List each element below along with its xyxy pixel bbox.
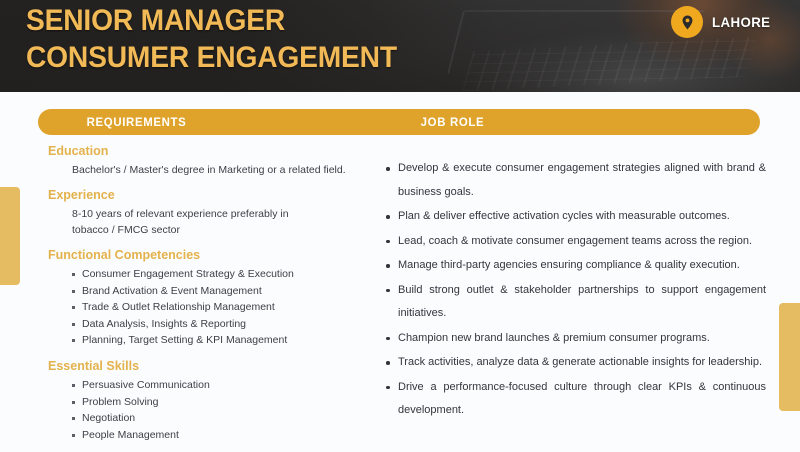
- location-label: LAHORE: [712, 14, 770, 30]
- list-item: Manage third-party agencies ensuring com…: [386, 254, 766, 278]
- list-item: Build strong outlet & stakeholder partne…: [386, 279, 766, 326]
- job-role-list: Develop & execute consumer engagement st…: [386, 157, 766, 423]
- location-badge: LAHORE: [671, 6, 774, 38]
- list-item: Consumer Engagement Strategy & Execution: [72, 266, 368, 283]
- experience-group: Experience 8-10 years of relevant experi…: [48, 187, 368, 238]
- job-role-column: Develop & execute consumer engagement st…: [386, 157, 766, 424]
- list-item: Track activities, analyze data & generat…: [386, 351, 766, 375]
- list-item: Persuasive Communication: [72, 377, 368, 394]
- education-heading: Education: [48, 143, 368, 159]
- experience-heading: Experience: [48, 187, 368, 203]
- requirements-column: Education Bachelor's / Master's degree i…: [48, 143, 368, 452]
- section-header-bar: REQUIREMENTS JOB ROLE: [38, 109, 760, 135]
- experience-text-line-1: 8-10 years of relevant experience prefer…: [72, 206, 368, 222]
- left-edge-accent-tab: [0, 187, 20, 285]
- functional-competencies-heading: Functional Competencies: [48, 247, 368, 263]
- essential-skills-heading: Essential Skills: [48, 358, 368, 374]
- page-title: SENIOR MANAGER CONSUMER ENGAGEMENT: [26, 2, 421, 76]
- list-item: Problem Solving: [72, 394, 368, 411]
- right-edge-accent-tab: [779, 303, 800, 411]
- list-item: Develop & execute consumer engagement st…: [386, 157, 766, 204]
- job-title-line-1: SENIOR MANAGER: [26, 2, 397, 39]
- functional-competencies-group: Functional Competencies Consumer Engagem…: [48, 247, 368, 349]
- job-role-column-header: JOB ROLE: [421, 109, 485, 135]
- requirements-column-header: REQUIREMENTS: [87, 109, 187, 135]
- education-group: Education Bachelor's / Master's degree i…: [48, 143, 368, 178]
- functional-competencies-list: Consumer Engagement Strategy & Execution…: [48, 266, 368, 349]
- job-title-line-2: CONSUMER ENGAGEMENT: [26, 39, 397, 76]
- list-item: Negotiation: [72, 410, 368, 427]
- map-pin-icon: [671, 6, 703, 38]
- content-columns: Education Bachelor's / Master's degree i…: [0, 143, 800, 445]
- list-item: Planning, Target Setting & KPI Managemen…: [72, 332, 368, 349]
- experience-text: 8-10 years of relevant experience prefer…: [72, 206, 368, 238]
- list-item: Plan & deliver effective activation cycl…: [386, 205, 766, 229]
- experience-text-line-2: tobacco / FMCG sector: [72, 222, 368, 238]
- list-item: People Management: [72, 427, 368, 444]
- list-item: Trade & Outlet Relationship Management: [72, 299, 368, 316]
- list-item: Data Analysis, Insights & Reporting: [72, 316, 368, 333]
- list-item: Lead, coach & motivate consumer engageme…: [386, 230, 766, 254]
- list-item: Drive a performance-focused culture thro…: [386, 376, 766, 423]
- list-item: Brand Activation & Event Management: [72, 283, 368, 300]
- header-banner: SENIOR MANAGER CONSUMER ENGAGEMENT LAHOR…: [0, 0, 800, 92]
- essential-skills-list: Persuasive Communication Problem Solving…: [48, 377, 368, 443]
- essential-skills-group: Essential Skills Persuasive Communicatio…: [48, 358, 368, 443]
- list-item: Champion new brand launches & premium co…: [386, 327, 766, 351]
- education-text: Bachelor's / Master's degree in Marketin…: [72, 162, 368, 178]
